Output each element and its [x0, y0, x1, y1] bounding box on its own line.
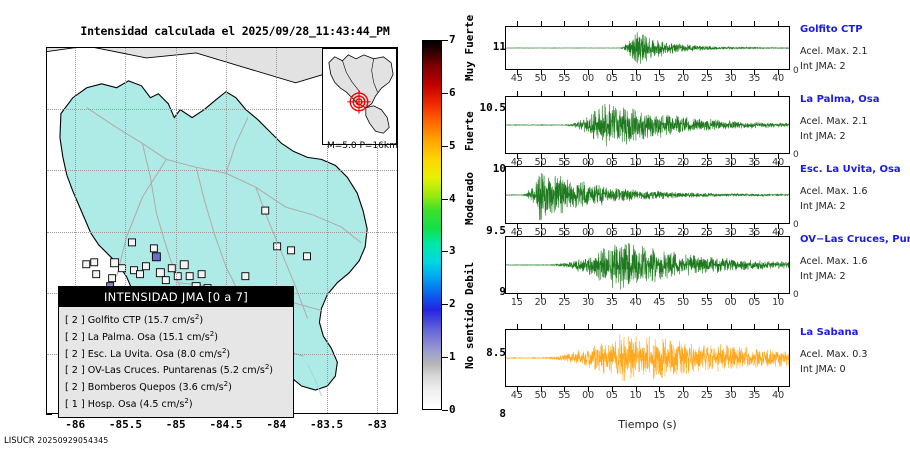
waveform-tick-mark-top	[612, 21, 613, 26]
waveform-tick-mark-top	[564, 161, 565, 166]
colorbar-tick-label: 1	[449, 350, 456, 363]
legend-intensity-bracket: [ 1 ]	[65, 399, 88, 410]
waveform-tick-mark-top	[564, 324, 565, 329]
waveform-tick-labels: 152025303540455055000510	[505, 297, 790, 311]
legend-intensity-bracket: [ 2 ]	[65, 315, 88, 326]
waveform-plot[interactable]	[505, 26, 790, 70]
waveform-trace	[506, 243, 789, 289]
legend-station-row: [ 2 ] La Palma. Osa (15.1 cm/s2)	[65, 328, 287, 345]
waveform-trace-svg	[506, 27, 789, 69]
legend-close-paren: )	[199, 315, 203, 326]
waveform-zero-label: 0	[793, 150, 799, 160]
waveform-tick-mark-top	[754, 231, 755, 236]
waveform-tick-mark-top	[612, 324, 613, 329]
waveform-tick-mark-top	[659, 21, 660, 26]
waveform-tick-mark-top	[683, 21, 684, 26]
waveform-tick-mark-top	[778, 161, 779, 166]
waveform-trace-svg	[506, 167, 789, 223]
footer-code: 20250929054345	[37, 436, 108, 445]
waveform-tick-mark-top	[683, 91, 684, 96]
waveform-tick-mark-top	[707, 21, 708, 26]
waveform-tick-mark-top	[517, 21, 518, 26]
waveform-tick-label: 20	[677, 73, 689, 84]
waveform-plot[interactable]	[505, 236, 790, 294]
waveform-tick-mark-top	[541, 91, 542, 96]
waveform-tick-mark-top	[683, 324, 684, 329]
legend-intensity-bracket: [ 2 ]	[65, 382, 88, 393]
waveform-tick-label: 05	[606, 73, 618, 84]
page-title: Intensidad calculada el 2025/09/28_11:43…	[0, 24, 470, 38]
waveform-tick-mark-top	[612, 161, 613, 166]
waveform-tick-label: 55	[701, 297, 713, 308]
waveform-tick-mark-top	[517, 161, 518, 166]
legend-station-name: La Palma. Osa (15.1 cm/s	[88, 332, 210, 343]
waveform-tick-label: 10	[630, 73, 642, 84]
waveform-tick-label: 40	[772, 390, 784, 401]
waveform-jma-intensity: Int JMA: 2	[800, 271, 846, 282]
map-y-tick-label: 10.5	[446, 101, 506, 114]
waveform-tick-label: 45	[511, 73, 523, 84]
waveform-tick-label: 05	[606, 390, 618, 401]
waveform-tick-mark-top	[564, 21, 565, 26]
legend-intensity-bracket: [ 2 ]	[65, 332, 88, 343]
waveform-plot[interactable]	[505, 329, 790, 387]
waveform-tick-label: 35	[748, 73, 760, 84]
waveform-tick-label: 20	[677, 390, 689, 401]
waveform-tick-label: 55	[558, 73, 570, 84]
colorbar-tick-label: 2	[449, 297, 456, 310]
waveform-tick-mark-top	[683, 231, 684, 236]
waveform-jma-intensity: Int JMA: 2	[800, 201, 846, 212]
legend-station-row: [ 2 ] Esc. La Uvita. Osa (8.0 cm/s2)	[65, 345, 287, 362]
waveform-tick-mark-top	[731, 324, 732, 329]
waveform-tick-label: 30	[582, 297, 594, 308]
colorbar-category-label: No sentido	[463, 303, 476, 369]
colorbar-tick-mark	[442, 199, 448, 200]
waveform-tick-mark-top	[588, 21, 589, 26]
waveform-tick-label: 00	[582, 390, 594, 401]
waveform-tick-label: 30	[725, 73, 737, 84]
waveform-tick-label: 15	[653, 390, 665, 401]
colorbar-category-label: Fuerte	[463, 111, 476, 151]
colorbar-category-label: Muy Fuerte	[463, 14, 476, 80]
waveform-tick-mark-top	[754, 91, 755, 96]
intensity-legend: INTENSIDAD JMA [0 a 7] [ 2 ] Golfito CTP…	[58, 286, 294, 418]
waveform-trace	[506, 173, 789, 220]
waveform-x-axis-label: Tiempo (s)	[505, 418, 790, 431]
colorbar-category-label: Moderado	[463, 172, 476, 225]
colorbar-tick-mark	[442, 146, 448, 147]
footer-credit: LISUCR 20250929054345	[4, 436, 108, 446]
waveform-tick-mark-top	[517, 324, 518, 329]
waveform-tick-label: 25	[558, 297, 570, 308]
waveform-plot[interactable]	[505, 166, 790, 224]
waveform-station-name[interactable]: La Sabana	[800, 327, 858, 338]
waveform-tick-mark-top	[636, 231, 637, 236]
colorbar-tick-mark	[442, 357, 448, 358]
waveform-station-name[interactable]: La Palma, Osa	[800, 94, 880, 105]
waveform-tick-mark-top	[659, 231, 660, 236]
waveform-trace	[506, 334, 789, 381]
colorbar-category-label: Debil	[463, 262, 476, 295]
waveform-tick-mark-top	[778, 21, 779, 26]
waveform-max-acceleration: Acel. Max. 2.1	[800, 46, 868, 57]
waveform-trace-svg	[506, 330, 789, 386]
waveform-tick-mark-top	[731, 21, 732, 26]
waveform-plot[interactable]	[505, 96, 790, 154]
colorbar-tick-mark	[442, 251, 448, 252]
waveform-tick-label: 05	[748, 297, 760, 308]
magnitude-depth-caption: M=5.0 P=16km	[327, 141, 398, 151]
footer-agency: LISUCR	[4, 436, 35, 446]
waveform-tick-label: 35	[748, 390, 760, 401]
waveform-tick-mark-top	[659, 161, 660, 166]
waveform-tick-label: 35	[606, 297, 618, 308]
colorbar-tick-mark	[442, 93, 448, 94]
waveform-tick-mark-top	[541, 161, 542, 166]
waveform-max-acceleration: Acel. Max. 1.6	[800, 186, 868, 197]
waveform-trace	[506, 32, 789, 64]
waveform-tick-label: 50	[535, 390, 547, 401]
map-gridline-horizontal	[47, 170, 398, 171]
colorbar-tick-mark	[442, 40, 448, 41]
legend-station-name: Golfito CTP (15.7 cm/s	[88, 315, 195, 326]
waveform-tick-mark-top	[731, 231, 732, 236]
waveform-jma-intensity: Int JMA: 2	[800, 61, 846, 72]
waveform-tick-mark-top	[612, 231, 613, 236]
legend-intensity-bracket: [ 2 ]	[65, 349, 88, 360]
waveform-tick-mark-top	[636, 91, 637, 96]
waveform-tick-mark-top	[707, 91, 708, 96]
colorbar-tick-label: 4	[449, 192, 456, 205]
waveform-tick-label: 25	[701, 390, 713, 401]
waveform-tick-label: 10	[630, 390, 642, 401]
waveform-tick-label: 55	[558, 390, 570, 401]
waveform-jma-intensity: Int JMA: 0	[800, 364, 846, 375]
waveform-tick-mark-top	[588, 324, 589, 329]
waveform-tick-mark-top	[636, 324, 637, 329]
inset-geometry	[323, 49, 396, 144]
waveform-tick-label: 40	[630, 297, 642, 308]
waveform-tick-mark-top	[683, 161, 684, 166]
waveform-tick-mark-top	[636, 161, 637, 166]
intensity-colorbar	[422, 40, 442, 410]
legend-station-name: Esc. La Uvita. Osa (8.0 cm/s	[88, 349, 222, 360]
waveform-trace	[506, 104, 789, 146]
waveform-station-name[interactable]: OV−Las Cruces, Puntar	[800, 234, 910, 245]
waveform-tick-mark-top	[517, 91, 518, 96]
waveform-tick-mark-top	[541, 21, 542, 26]
map-y-tick-label: 9	[446, 285, 506, 298]
waveform-zero-label: 0	[793, 220, 799, 230]
waveform-tick-label: 15	[511, 297, 523, 308]
waveform-station-name[interactable]: Esc. La Uvita, Osa	[800, 164, 901, 175]
waveform-tick-label: 15	[653, 73, 665, 84]
waveform-tick-mark-top	[564, 231, 565, 236]
legend-station-name: OV-Las Cruces. Puntarenas (5.2 cm/s	[88, 366, 265, 377]
waveform-tick-mark-top	[731, 91, 732, 96]
waveform-zero-label: 0	[793, 290, 799, 300]
waveform-tick-mark-top	[754, 161, 755, 166]
legend-station-row: [ 2 ] Golfito CTP (15.7 cm/s2)	[65, 311, 287, 328]
waveform-tick-mark-top	[659, 324, 660, 329]
legend-close-paren: )	[228, 382, 232, 393]
waveform-tick-mark-top	[541, 231, 542, 236]
map-gridline-horizontal	[47, 232, 398, 233]
waveform-tick-mark-top	[707, 161, 708, 166]
waveform-tick-mark-top	[517, 231, 518, 236]
legend-rows: [ 2 ] Golfito CTP (15.7 cm/s2)[ 2 ] La P…	[59, 307, 293, 417]
waveform-tick-mark-top	[707, 231, 708, 236]
waveform-tick-label: 00	[725, 297, 737, 308]
waveform-tick-mark-top	[778, 231, 779, 236]
location-inset-map[interactable]	[322, 48, 397, 145]
waveform-tick-labels: 455055000510152025303540	[505, 390, 790, 404]
waveform-tick-mark-top	[636, 21, 637, 26]
colorbar-tick-mark	[442, 410, 448, 411]
waveform-tick-label: 20	[535, 297, 547, 308]
waveform-trace-svg	[506, 237, 789, 293]
waveform-tick-mark-top	[778, 91, 779, 96]
waveform-tick-label: 50	[677, 297, 689, 308]
waveform-max-acceleration: Acel. Max. 2.1	[800, 116, 868, 127]
waveform-tick-mark-top	[612, 91, 613, 96]
waveform-tick-label: 50	[535, 73, 547, 84]
legend-station-row: [ 2 ] Bomberos Quepos (3.6 cm/s2)	[65, 378, 287, 395]
waveform-tick-label: 40	[772, 73, 784, 84]
legend-close-paren: )	[189, 399, 193, 410]
waveform-trace-svg	[506, 97, 789, 153]
waveform-tick-label: 30	[725, 390, 737, 401]
waveform-max-acceleration: Acel. Max. 1.6	[800, 256, 868, 267]
waveform-tick-mark-top	[659, 91, 660, 96]
colorbar-tick-label: 7	[449, 33, 456, 46]
map-y-tick-mark	[46, 414, 52, 415]
waveform-tick-mark-top	[731, 161, 732, 166]
colorbar-tick-label: 0	[449, 403, 456, 416]
colorbar-tick-label: 3	[449, 244, 456, 257]
waveform-tick-mark-top	[754, 21, 755, 26]
waveform-tick-mark-top	[588, 161, 589, 166]
map-x-tick-label: -83	[347, 418, 407, 431]
colorbar-tick-mark	[442, 304, 448, 305]
waveform-tick-mark-top	[588, 91, 589, 96]
waveform-zero-label: 0	[793, 66, 799, 76]
legend-close-paren: )	[269, 366, 273, 377]
legend-intensity-bracket: [ 2 ]	[65, 366, 88, 377]
waveform-tick-label: 25	[701, 73, 713, 84]
waveform-tick-label: 00	[582, 73, 594, 84]
colorbar-tick-label: 5	[449, 139, 456, 152]
waveform-tick-label: 45	[653, 297, 665, 308]
legend-station-row: [ 1 ] Hosp. Osa (4.5 cm/s2)	[65, 395, 287, 412]
waveform-tick-mark-top	[707, 324, 708, 329]
legend-station-name: Bomberos Quepos (3.6 cm/s	[88, 382, 224, 393]
legend-close-paren: )	[214, 332, 218, 343]
waveform-tick-mark-top	[588, 231, 589, 236]
map-y-tick-label: 10	[446, 162, 506, 175]
waveform-tick-labels: 455055000510152025303540	[505, 73, 790, 87]
legend-close-paren: )	[226, 349, 230, 360]
colorbar-tick-label: 6	[449, 86, 456, 99]
waveform-tick-mark-top	[754, 324, 755, 329]
waveform-jma-intensity: Int JMA: 2	[800, 131, 846, 142]
waveform-station-name[interactable]: Golfito CTP	[800, 24, 863, 35]
waveform-tick-label: 10	[772, 297, 784, 308]
map-y-tick-label: 9.5	[446, 224, 506, 237]
waveform-tick-label: 45	[511, 390, 523, 401]
waveform-tick-mark-top	[564, 91, 565, 96]
waveform-tick-mark-top	[778, 324, 779, 329]
legend-station-row: [ 2 ] OV-Las Cruces. Puntarenas (5.2 cm/…	[65, 361, 287, 378]
legend-station-name: Hosp. Osa (4.5 cm/s	[88, 399, 185, 410]
legend-title: INTENSIDAD JMA [0 a 7]	[59, 287, 293, 307]
waveform-tick-mark-top	[541, 324, 542, 329]
waveform-max-acceleration: Acel. Max. 0.3	[800, 349, 868, 360]
